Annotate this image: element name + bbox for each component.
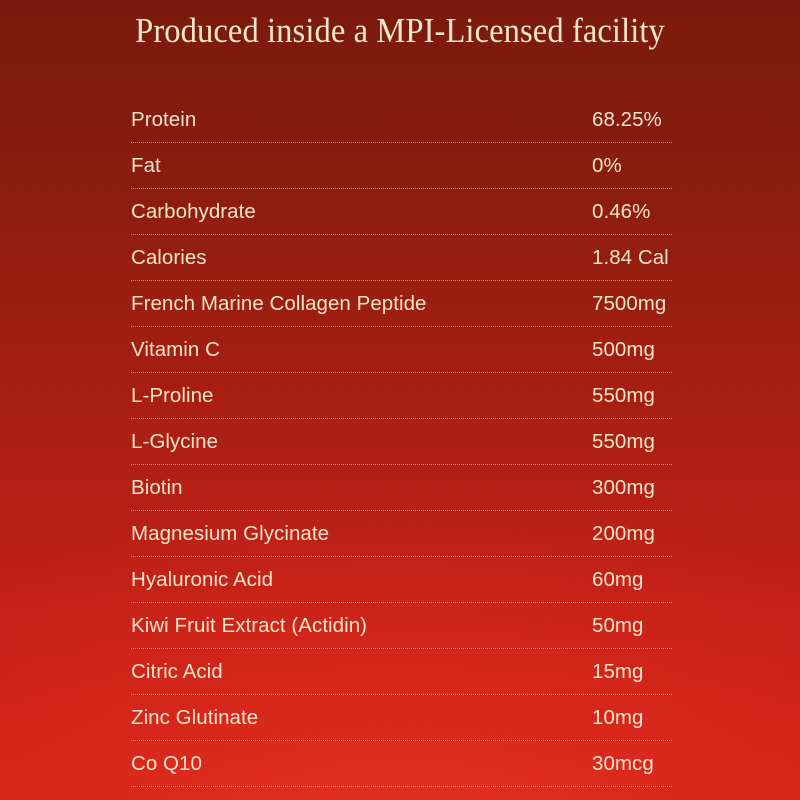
nutrient-value: 68.25%: [592, 97, 662, 142]
nutrient-label: Hyaluronic Acid: [131, 557, 273, 602]
table-row: Zinc Glutinate10mg: [131, 695, 672, 741]
nutrient-label: Calories: [131, 235, 207, 280]
table-row: Biotin300mg: [131, 465, 672, 511]
nutrient-label: Vitamin C: [131, 327, 220, 372]
nutrient-value: 300mg: [592, 465, 655, 510]
nutrition-table: Protein68.25%Fat0%Carbohydrate0.46%Calor…: [131, 97, 672, 787]
nutrient-value: 7500mg: [592, 281, 666, 326]
table-row: Hyaluronic Acid60mg: [131, 557, 672, 603]
nutrient-label: Citric Acid: [131, 649, 223, 694]
nutrition-panel: Produced inside a MPI-Licensed facility …: [0, 0, 800, 800]
nutrient-value: 0%: [592, 143, 622, 188]
table-row: L-Proline550mg: [131, 373, 672, 419]
nutrient-label: Biotin: [131, 465, 183, 510]
nutrient-value: 0.46%: [592, 189, 650, 234]
table-row: Carbohydrate0.46%: [131, 189, 672, 235]
nutrient-label: Co Q10: [131, 741, 202, 786]
table-row: Vitamin C500mg: [131, 327, 672, 373]
table-row: Magnesium Glycinate200mg: [131, 511, 672, 557]
nutrient-value: 200mg: [592, 511, 655, 556]
table-row: French Marine Collagen Peptide7500mg: [131, 281, 672, 327]
nutrient-value: 60mg: [592, 557, 643, 602]
nutrient-value: 50mg: [592, 603, 643, 648]
nutrient-label: L-Proline: [131, 373, 214, 418]
nutrient-label: Carbohydrate: [131, 189, 256, 234]
nutrient-label: L-Glycine: [131, 419, 218, 464]
table-row: Protein68.25%: [131, 97, 672, 143]
nutrient-label: Magnesium Glycinate: [131, 511, 329, 556]
nutrient-label: French Marine Collagen Peptide: [131, 281, 427, 326]
nutrient-value: 10mg: [592, 695, 643, 740]
table-row: Kiwi Fruit Extract (Actidin)50mg: [131, 603, 672, 649]
nutrient-label: Fat: [131, 143, 161, 188]
table-row: Co Q1030mcg: [131, 741, 672, 787]
nutrient-value: 30mcg: [592, 741, 654, 786]
page-title: Produced inside a MPI-Licensed facility: [28, 9, 772, 53]
nutrient-value: 550mg: [592, 419, 655, 464]
nutrient-value: 15mg: [592, 649, 643, 694]
nutrient-value: 550mg: [592, 373, 655, 418]
nutrient-label: Protein: [131, 97, 196, 142]
nutrient-label: Kiwi Fruit Extract (Actidin): [131, 603, 367, 648]
nutrient-label: Zinc Glutinate: [131, 695, 258, 740]
table-row: L-Glycine550mg: [131, 419, 672, 465]
table-row: Citric Acid15mg: [131, 649, 672, 695]
table-row: Calories1.84 Cal: [131, 235, 672, 281]
table-row: Fat0%: [131, 143, 672, 189]
nutrient-value: 1.84 Cal: [592, 235, 669, 280]
nutrient-value: 500mg: [592, 327, 655, 372]
